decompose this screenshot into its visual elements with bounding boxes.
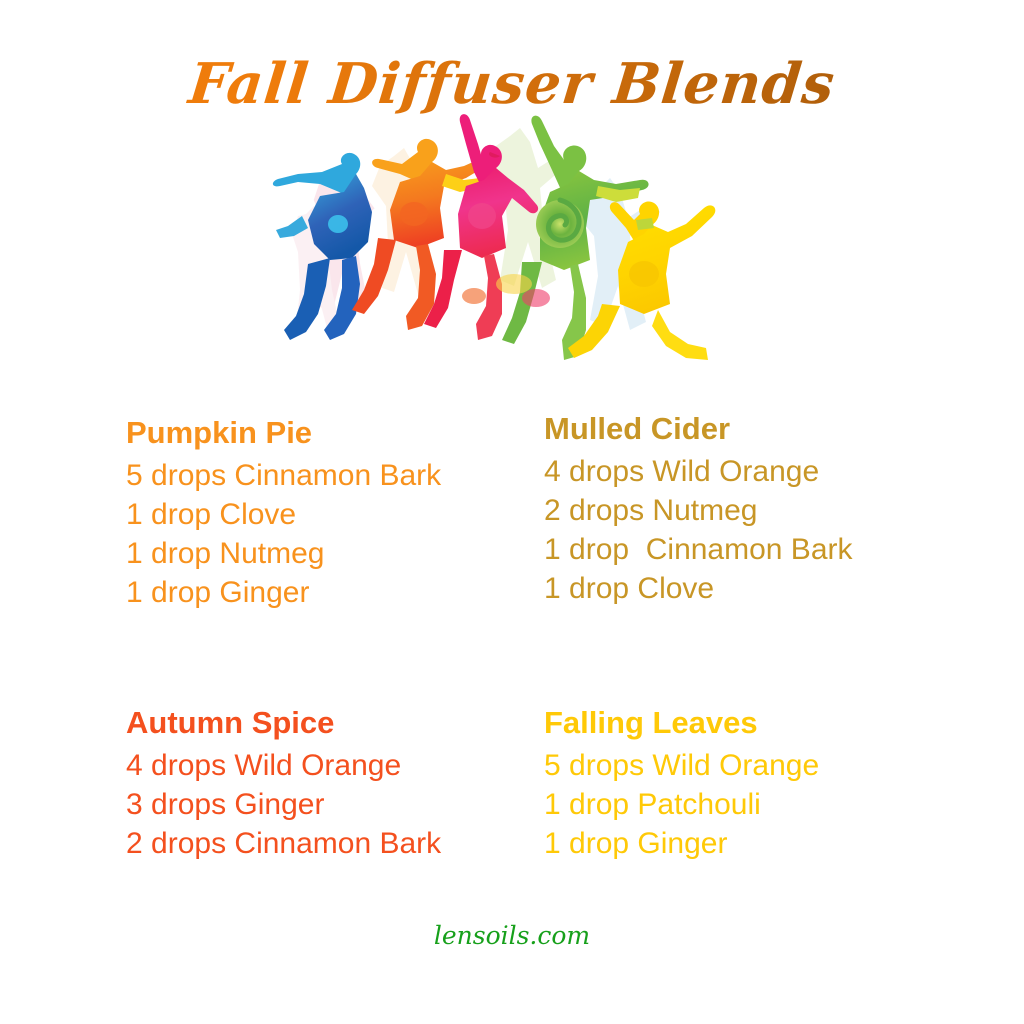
recipe-ingredient: 3 drops Ginger [126, 785, 556, 824]
recipe-ingredient: 4 drops Wild Orange [126, 746, 556, 785]
jumping-people-svg [268, 108, 738, 370]
recipe-ingredient: 1 drop Nutmeg [126, 534, 556, 573]
recipe-title: Pumpkin Pie [126, 415, 556, 451]
recipe-ingredient: 2 drops Cinnamon Bark [126, 824, 556, 863]
jumping-people-illustration [268, 108, 738, 370]
recipe-ingredient: 1 drop Patchouli [544, 785, 974, 824]
page-title: Fall Diffuser Blends [0, 52, 1024, 116]
recipe-card-mulled-cider: Mulled Cider 4 drops Wild Orange 2 drops… [544, 411, 974, 608]
recipe-title: Mulled Cider [544, 411, 974, 447]
recipe-ingredient: 1 drop Clove [544, 569, 974, 608]
recipe-ingredient: 1 drop Clove [126, 495, 556, 534]
recipe-grid: Pumpkin Pie 5 drops Cinnamon Bark 1 drop… [0, 415, 1024, 895]
site-brand-link[interactable]: lensoils.com [0, 921, 1024, 950]
recipe-card-pumpkin-pie: Pumpkin Pie 5 drops Cinnamon Bark 1 drop… [126, 415, 556, 612]
recipe-ingredient: 5 drops Cinnamon Bark [126, 456, 556, 495]
recipe-title: Falling Leaves [544, 705, 974, 741]
figure-blue [273, 153, 372, 340]
recipe-ingredient: 2 drops Nutmeg [544, 491, 974, 530]
recipe-ingredient: 4 drops Wild Orange [544, 452, 974, 491]
recipe-ingredient: 1 drop Ginger [126, 573, 556, 612]
recipe-title: Autumn Spice [126, 705, 556, 741]
recipe-card-autumn-spice: Autumn Spice 4 drops Wild Orange 3 drops… [126, 705, 556, 863]
recipe-ingredient: 1 drop Ginger [544, 824, 974, 863]
recipe-ingredient: 1 drop Cinnamon Bark [544, 530, 974, 569]
recipe-ingredient: 5 drops Wild Orange [544, 746, 974, 785]
recipe-card-falling-leaves: Falling Leaves 5 drops Wild Orange 1 dro… [544, 705, 974, 863]
